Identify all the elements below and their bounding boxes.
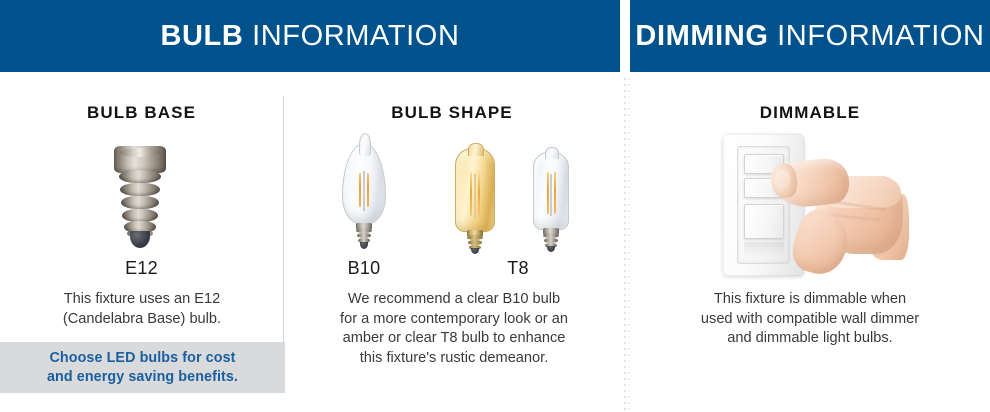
t8-amber-stem	[474, 174, 476, 218]
t8-clear-filament-1	[547, 172, 549, 214]
dimming-information-title: DIMMING INFORMATION	[635, 20, 984, 53]
dimmable-description: This fixture is dimmable when used with …	[640, 290, 980, 349]
bulb-base-description: This fixture uses an E12 (Candelabra Bas…	[6, 290, 278, 329]
t8-amber-filament-1	[470, 172, 472, 216]
t8-amber-tube-bulb-icon	[455, 148, 495, 254]
dimming-information-title-bold: DIMMING	[635, 20, 768, 52]
e12-screw-base-icon	[111, 146, 169, 252]
bulb-information-title-rest: INFORMATION	[243, 20, 459, 52]
panel-divider-dotted	[624, 78, 626, 412]
bulb-information-title: BULB INFORMATION	[160, 20, 459, 53]
b10-clear-candle-bulb-icon	[342, 143, 386, 253]
bulb-information-header: BULB INFORMATION	[0, 0, 620, 72]
hand-pressing-switch-icon	[769, 154, 903, 276]
t8-label: T8	[478, 258, 558, 279]
panel-divider-dotted-2	[628, 78, 630, 412]
column-divider	[283, 96, 284, 342]
dimmable-heading: DIMMABLE	[630, 103, 990, 123]
bulb-shape-description: We recommend a clear B10 bulb for a more…	[304, 290, 604, 368]
dimming-information-title-rest: INFORMATION	[768, 20, 984, 52]
b10-stem	[363, 171, 365, 211]
e12-collar	[114, 146, 166, 173]
e12-thread-3	[121, 196, 159, 209]
bulb-information-title-bold: BULB	[160, 20, 243, 52]
wall-dimmer-switch-icon	[723, 134, 903, 276]
t8-clear-tube-bulb-icon	[533, 152, 569, 252]
infographic-root: BULB INFORMATION DIMMING INFORMATION BUL…	[0, 0, 990, 412]
dimming-information-header: DIMMING INFORMATION	[630, 0, 990, 72]
b10-filament-2	[367, 173, 369, 207]
hand-fingernail	[775, 170, 790, 189]
led-callout-text: Choose LED bulbs for cost and energy sav…	[47, 349, 238, 386]
t8-clear-stem	[550, 174, 552, 216]
b10-base-tip	[360, 242, 368, 249]
e12-contact-tip	[130, 231, 150, 248]
e12-thread-1	[119, 170, 161, 183]
t8-amber-filament-2	[478, 172, 480, 216]
bulb-shape-heading: BULB SHAPE	[284, 103, 620, 123]
e12-thread-2	[120, 183, 160, 196]
b10-label: B10	[324, 258, 404, 279]
bulb-base-heading: BULB BASE	[0, 103, 283, 123]
led-callout-box: Choose LED bulbs for cost and energy sav…	[0, 342, 285, 393]
t8-clear-filament-2	[554, 172, 556, 214]
e12-label: E12	[0, 258, 283, 279]
t8-amber-base-tip	[471, 248, 479, 254]
t8-clear-base-tip	[547, 246, 555, 252]
b10-filament-1	[359, 173, 361, 207]
